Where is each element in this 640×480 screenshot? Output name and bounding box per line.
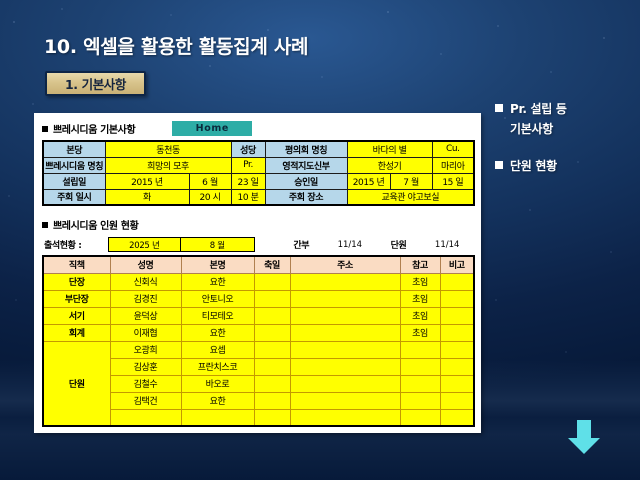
- table-value-cell[interactable]: 바오로: [181, 375, 254, 392]
- member-tag: 단원: [376, 238, 422, 251]
- table-value-cell[interactable]: 이재협: [110, 324, 181, 341]
- table-value-cell[interactable]: 초임: [400, 290, 440, 307]
- table-value-cell[interactable]: [290, 358, 400, 375]
- table-value-cell[interactable]: 프란치스코: [181, 358, 254, 375]
- table-value-cell[interactable]: [440, 392, 474, 409]
- table-header-cell: 승인일: [265, 173, 347, 189]
- attendance-year-field[interactable]: 2025 년: [108, 237, 182, 252]
- table-value-cell[interactable]: [181, 409, 254, 426]
- section-tab-label: 1. 기본사항: [65, 74, 126, 93]
- table-value-cell[interactable]: 요한: [181, 273, 254, 290]
- square-bullet-icon: [495, 104, 503, 112]
- table-value-cell[interactable]: 희망의 모후: [105, 157, 231, 173]
- table-value-cell[interactable]: [290, 341, 400, 358]
- members-table-head: 직책성명본명축일주소참고비고: [43, 256, 474, 273]
- table-row: 단원오광희요셉: [43, 341, 474, 358]
- table-row: 부단장김경진안토니오초임: [43, 290, 474, 307]
- table-value-cell[interactable]: [400, 409, 440, 426]
- table-value-cell[interactable]: 화: [105, 189, 189, 205]
- home-button[interactable]: Home: [172, 121, 252, 136]
- table-value-cell[interactable]: [440, 375, 474, 392]
- section-gap: [42, 206, 473, 216]
- section-tab-basic-info[interactable]: 1. 기본사항: [45, 71, 146, 96]
- table-value-cell[interactable]: [290, 273, 400, 290]
- column-header: 비고: [440, 256, 474, 273]
- table-value-cell[interactable]: 요한: [181, 392, 254, 409]
- table-value-cell[interactable]: [440, 324, 474, 341]
- table-value-cell[interactable]: 6 월: [189, 173, 231, 189]
- table-value-cell[interactable]: 7 월: [390, 173, 432, 189]
- side-bullet-item-1: 단원 현황: [495, 157, 635, 174]
- table-value-cell[interactable]: 김택건: [110, 392, 181, 409]
- table-value-cell[interactable]: 15 일: [432, 173, 474, 189]
- column-header: 축일: [254, 256, 290, 273]
- table-value-cell[interactable]: 한성기: [347, 157, 432, 173]
- column-header: 직책: [43, 256, 110, 273]
- table-value-cell[interactable]: 티모테오: [181, 307, 254, 324]
- table-row: 회계이재협요한초임: [43, 324, 474, 341]
- table-value-cell[interactable]: 신회식: [110, 273, 181, 290]
- table-value-cell[interactable]: 20 시: [189, 189, 231, 205]
- member-count: 11/14: [421, 240, 473, 250]
- table-value-cell[interactable]: [290, 290, 400, 307]
- basic-section-label: 쁘레시디움 기본사항: [53, 121, 135, 136]
- table-value-cell[interactable]: [254, 409, 290, 426]
- table-value-cell[interactable]: [440, 409, 474, 426]
- column-header: 주소: [290, 256, 400, 273]
- table-value-cell[interactable]: 윤덕상: [110, 307, 181, 324]
- side-bullet-label: 단원 현황: [510, 157, 557, 174]
- table-header-cell: 본당: [43, 141, 105, 157]
- table-value-cell[interactable]: [290, 392, 400, 409]
- table-value-cell[interactable]: [254, 358, 290, 375]
- members-table: 직책성명본명축일주소참고비고 단장신회식요한초임부단장김경진안토니오초임서기윤덕…: [42, 255, 475, 427]
- table-value-cell[interactable]: [254, 375, 290, 392]
- table-value-cell[interactable]: 바다의 별: [347, 141, 432, 157]
- table-value-cell[interactable]: Pr.: [231, 157, 265, 173]
- table-value-cell[interactable]: [440, 341, 474, 358]
- officer-tag: 간부: [278, 238, 324, 251]
- table-value-cell[interactable]: [440, 273, 474, 290]
- page-title: 10. 엑셀을 활용한 활동집계 사례: [44, 32, 308, 59]
- table-value-cell[interactable]: [290, 375, 400, 392]
- table-value-cell[interactable]: Cu.: [432, 141, 474, 157]
- members-section-header: 쁘레시디움 인원 현황: [42, 216, 473, 233]
- table-value-cell[interactable]: 김철수: [110, 375, 181, 392]
- table-row: 단장신회식요한초임: [43, 273, 474, 290]
- table-value-cell[interactable]: 요한: [181, 324, 254, 341]
- table-header-cell: 설립일: [43, 173, 105, 189]
- table-value-cell[interactable]: [254, 392, 290, 409]
- table-value-cell[interactable]: [290, 324, 400, 341]
- content-card: 쁘레시디움 기본사항 Home 본당동천동성당평의회 명칭바다의 별Cu.쁘레시…: [34, 113, 481, 433]
- table-value-cell[interactable]: 오광희: [110, 341, 181, 358]
- table-value-cell[interactable]: 안토니오: [181, 290, 254, 307]
- side-bullet-item-0: Pr. 설립 등기본사항: [495, 100, 635, 137]
- side-bullet-label: Pr. 설립 등: [510, 100, 567, 117]
- table-value-cell[interactable]: [400, 392, 440, 409]
- members-table-body: 단장신회식요한초임부단장김경진안토니오초임서기윤덕상티모테오초임회계이재협요한초…: [43, 273, 474, 426]
- side-bullet-line: 단원 현황: [495, 157, 635, 174]
- table-value-cell[interactable]: 초임: [400, 307, 440, 324]
- down-arrow-glyph: [566, 418, 602, 456]
- table-value-cell[interactable]: 23 일: [231, 173, 265, 189]
- table-value-cell[interactable]: [254, 307, 290, 324]
- table-value-cell[interactable]: [254, 290, 290, 307]
- column-header: 성명: [110, 256, 181, 273]
- table-value-cell[interactable]: [440, 290, 474, 307]
- role-cell: 단장: [43, 273, 110, 290]
- attendance-label: 출석현황 :: [42, 238, 108, 251]
- table-value-cell[interactable]: 2015 년: [347, 173, 390, 189]
- table-value-cell[interactable]: [254, 324, 290, 341]
- table-value-cell[interactable]: 요셉: [181, 341, 254, 358]
- side-bullet-line: Pr. 설립 등: [495, 100, 635, 117]
- member-group-cell: 단원: [43, 341, 110, 426]
- basic-info-body: 본당동천동성당평의회 명칭바다의 별Cu.쁘레시디움 명칭희망의 모후Pr.영적…: [43, 141, 474, 205]
- table-value-cell[interactable]: 2015 년: [105, 173, 189, 189]
- attendance-month-field[interactable]: 8 월: [181, 237, 254, 252]
- table-row: 쁘레시디움 명칭희망의 모후Pr.영적지도신부한성기마리아: [43, 157, 474, 173]
- table-header-cell: 주회 일시: [43, 189, 105, 205]
- table-value-cell[interactable]: [254, 273, 290, 290]
- role-cell: 회계: [43, 324, 110, 341]
- table-value-cell[interactable]: 마리아: [432, 157, 474, 173]
- table-value-cell[interactable]: 10 분: [231, 189, 265, 205]
- table-value-cell[interactable]: 교육관 야고보실: [347, 189, 474, 205]
- table-value-cell[interactable]: 동천동: [105, 141, 231, 157]
- table-row: 본당동천동성당평의회 명칭바다의 별Cu.: [43, 141, 474, 157]
- column-header: 본명: [181, 256, 254, 273]
- square-bullet-icon: [495, 161, 503, 169]
- role-cell: 서기: [43, 307, 110, 324]
- table-header-cell: 영적지도신부: [265, 157, 347, 173]
- table-header-cell: 평의회 명칭: [265, 141, 347, 157]
- table-value-cell[interactable]: [440, 307, 474, 324]
- table-value-cell[interactable]: 초임: [400, 273, 440, 290]
- down-arrow-icon[interactable]: [566, 418, 602, 456]
- table-value-cell[interactable]: [440, 358, 474, 375]
- officer-count: 11/14: [324, 240, 376, 250]
- table-value-cell[interactable]: [110, 409, 181, 426]
- table-value-cell[interactable]: [400, 341, 440, 358]
- table-row: 설립일2015 년6 월23 일승인일2015 년7 월15 일: [43, 173, 474, 189]
- table-value-cell[interactable]: [290, 409, 400, 426]
- table-value-cell[interactable]: 김상훈: [110, 358, 181, 375]
- table-value-cell[interactable]: [290, 307, 400, 324]
- table-row: 주회 일시화20 시10 분주회 장소교육관 야고보실: [43, 189, 474, 205]
- table-value-cell[interactable]: 김경진: [110, 290, 181, 307]
- basic-section-header: 쁘레시디움 기본사항 Home: [42, 120, 473, 137]
- members-section-label: 쁘레시디움 인원 현황: [53, 217, 138, 232]
- table-value-cell[interactable]: [400, 375, 440, 392]
- column-header: 참고: [400, 256, 440, 273]
- role-cell: 부단장: [43, 290, 110, 307]
- table-value-cell[interactable]: 초임: [400, 324, 440, 341]
- attendance-row: 출석현황 : 2025 년 8 월 간부 11/14 단원 11/14: [42, 236, 473, 253]
- table-header-cell: 성당: [231, 141, 265, 157]
- table-value-cell[interactable]: [400, 358, 440, 375]
- table-header-cell: 쁘레시디움 명칭: [43, 157, 105, 173]
- square-bullet-icon: [42, 222, 48, 228]
- side-bullet-list: Pr. 설립 등기본사항단원 현황: [495, 100, 635, 194]
- members-header-row: 직책성명본명축일주소참고비고: [43, 256, 474, 273]
- table-header-cell: 주회 장소: [265, 189, 347, 205]
- side-bullet-sublabel: 기본사항: [495, 120, 635, 137]
- square-bullet-icon: [42, 126, 48, 132]
- basic-info-table: 본당동천동성당평의회 명칭바다의 별Cu.쁘레시디움 명칭희망의 모후Pr.영적…: [42, 140, 475, 206]
- table-value-cell[interactable]: [254, 341, 290, 358]
- table-row: 서기윤덕상티모테오초임: [43, 307, 474, 324]
